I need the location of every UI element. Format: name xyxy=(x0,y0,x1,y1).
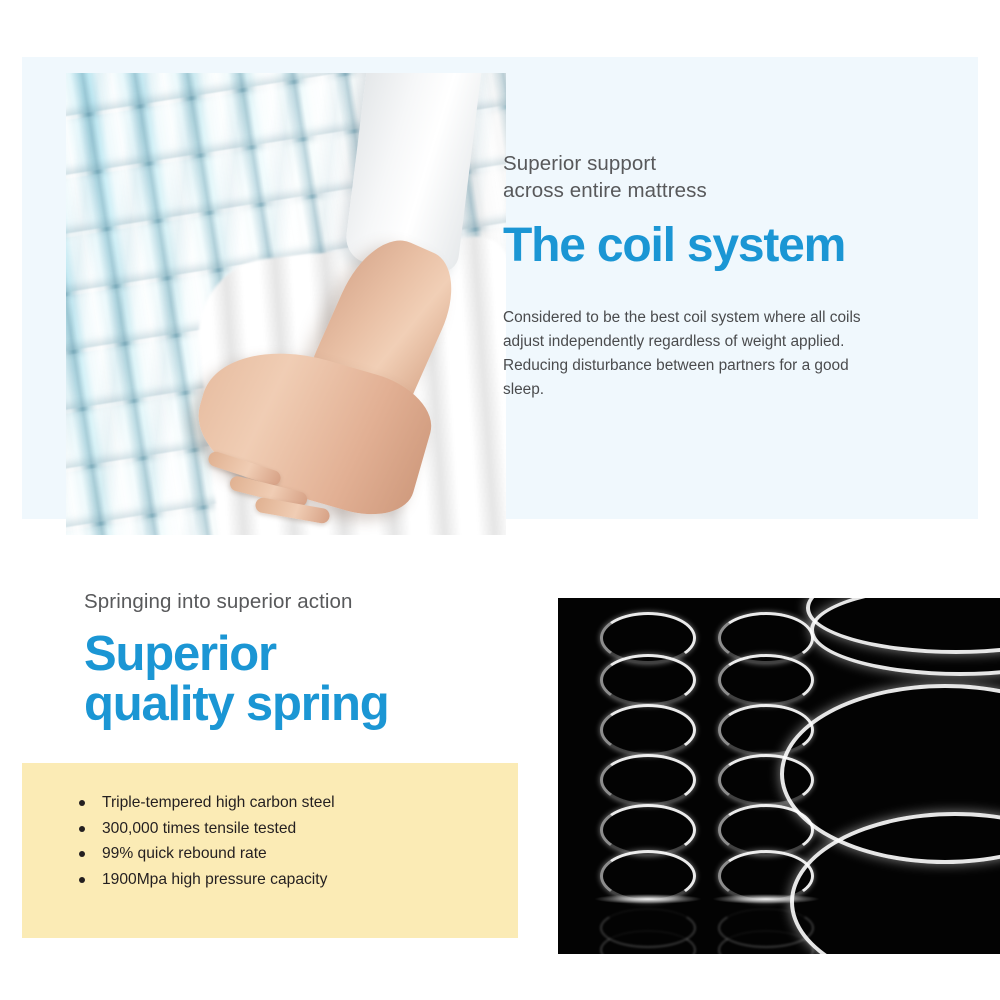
spring-features-box: Triple-tempered high carbon steel 300,00… xyxy=(22,763,518,938)
coil-kicker-line-2: across entire mattress xyxy=(503,177,933,204)
coil-kicker: Superior support across entire mattress xyxy=(503,150,933,204)
spring-heading-line-2: quality spring xyxy=(84,679,514,729)
coil-system-section: Superior support across entire mattress … xyxy=(0,0,1000,540)
coil-springs-photo xyxy=(558,598,1000,954)
list-item: 300,000 times tensile tested xyxy=(78,816,335,842)
spring-kicker: Springing into superior action xyxy=(84,588,514,615)
quality-spring-section: Springing into superior action Superior … xyxy=(0,540,1000,1000)
spring-heading-line-1: Superior xyxy=(84,627,276,681)
spring-left xyxy=(600,612,696,902)
spring-features-list: Triple-tempered high carbon steel 300,00… xyxy=(78,790,335,892)
spring-heading: Superior quality spring xyxy=(84,629,514,729)
coil-kicker-line-1: Superior support xyxy=(503,150,933,177)
coil-text-block: Superior support across entire mattress … xyxy=(503,150,933,418)
pocket-springs-photo xyxy=(66,73,506,535)
coil-heading: The coil system xyxy=(503,218,933,274)
list-item: Triple-tempered high carbon steel xyxy=(78,790,335,816)
list-item: 1900Mpa high pressure capacity xyxy=(78,867,335,893)
coil-body-paragraph: Considered to be the best coil system wh… xyxy=(503,306,875,402)
product-infographic-page: Superior support across entire mattress … xyxy=(0,0,1000,1000)
list-item: 99% quick rebound rate xyxy=(78,841,335,867)
spring-text-block: Springing into superior action Superior … xyxy=(84,588,514,762)
